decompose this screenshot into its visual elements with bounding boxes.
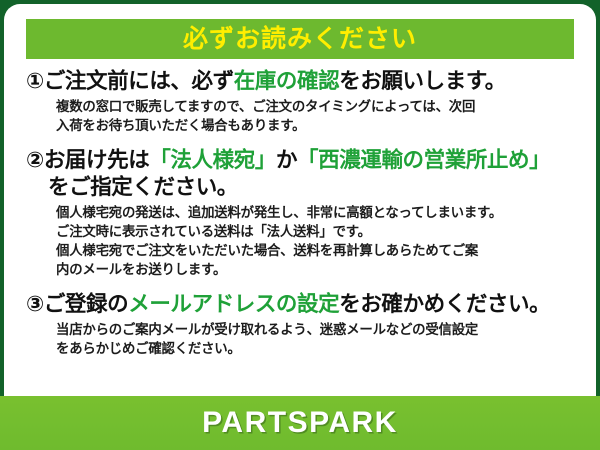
notice-item-2-body-line-3: 個人様宅宛でご注文をいただいた場合、送料を再計算しあらためてご案 [56, 241, 574, 260]
notice-card: 必ずお読みください ①ご注文前には、必ず在庫の確認をお願いします。 複数の窓口で… [0, 0, 600, 450]
notice-item-3-heading-highlight: メールアドレスの設定 [128, 292, 339, 316]
notice-item-1-heading-post: をお願いします。 [339, 69, 506, 93]
notice-item-1-body: 複数の窓口で販売してますので、ご注文のタイミングによっては、次回 入荷をお待ち頂… [26, 97, 574, 135]
notice-item-1-heading: ①ご注文前には、必ず在庫の確認をお願いします。 [26, 68, 574, 94]
notice-item-1: ①ご注文前には、必ず在庫の確認をお願いします。 複数の窓口で販売してますので、ご… [26, 68, 574, 135]
notice-item-1-body-line-1: 複数の窓口で販売してますので、ご注文のタイミングによっては、次回 [56, 97, 574, 116]
notice-item-2-body-line-2: ご注文時に表示されている送料は「法人送料」です。 [56, 222, 574, 241]
notice-item-2-number: ② [26, 148, 44, 172]
notice-item-2-heading-mid: か [276, 148, 297, 172]
notice-item-3-number: ③ [26, 292, 44, 316]
notice-item-2-heading-pre: お届け先は [44, 148, 150, 172]
notice-item-2-heading-line-2: をご指定ください。 [26, 174, 574, 200]
brand-logo: PARTSPARK [202, 408, 398, 438]
notice-item-3-body: 当店からのご案内メールが受け取れるよう、迷惑メールなどの受信設定 をあらかじめご… [26, 320, 574, 358]
notice-item-3-heading: ③ご登録のメールアドレスの設定をお確かめください。 [26, 291, 574, 317]
notice-item-1-heading-highlight: 在庫の確認 [234, 69, 340, 93]
notice-item-1-heading-pre: ご注文前には、必ず [44, 69, 234, 93]
notice-item-2-heading-line2-text: をご指定ください。 [48, 175, 238, 199]
notice-item-3: ③ご登録のメールアドレスの設定をお確かめください。 当店からのご案内メールが受け… [26, 291, 574, 358]
notice-item-3-heading-post: をお確かめください。 [339, 292, 550, 316]
notice-item-1-body-line-2: 入荷をお待ち頂いただく場合もあります。 [56, 116, 574, 135]
notice-item-3-body-line-2: をあらかじめご確認ください。 [56, 339, 574, 358]
notice-item-2-body-line-4: 内のメールをお送りします。 [56, 260, 574, 279]
footer-bar: PARTSPARK [0, 396, 600, 450]
notice-item-1-number: ① [26, 69, 44, 93]
notice-item-3-heading-pre: ご登録の [44, 292, 128, 316]
notice-item-2: ②お届け先は「法人様宛」か「西濃運輸の営業所止め」 をご指定ください。 個人様宅… [26, 147, 574, 279]
header-banner: 必ずお読みください [26, 19, 574, 59]
notice-item-2-body-line-1: 個人様宅宛の発送は、追加送料が発生し、非常に高額となってしまいます。 [56, 203, 574, 222]
notice-item-2-heading: ②お届け先は「法人様宛」か「西濃運輸の営業所止め」 [26, 147, 574, 173]
page-title: 必ずお読みください [183, 27, 417, 52]
notice-item-3-body-line-1: 当店からのご案内メールが受け取れるよう、迷惑メールなどの受信設定 [56, 320, 574, 339]
content-panel: 必ずお読みください ①ご注文前には、必ず在庫の確認をお願いします。 複数の窓口で… [4, 4, 596, 404]
notice-item-2-heading-highlight: 「法人様宛」 [149, 148, 276, 172]
notice-item-2-body: 個人様宅宛の発送は、追加送料が発生し、非常に高額となってしまいます。 ご注文時に… [26, 203, 574, 279]
notice-item-2-heading-highlight-2: 「西濃運輸の営業所止め」 [297, 148, 550, 172]
